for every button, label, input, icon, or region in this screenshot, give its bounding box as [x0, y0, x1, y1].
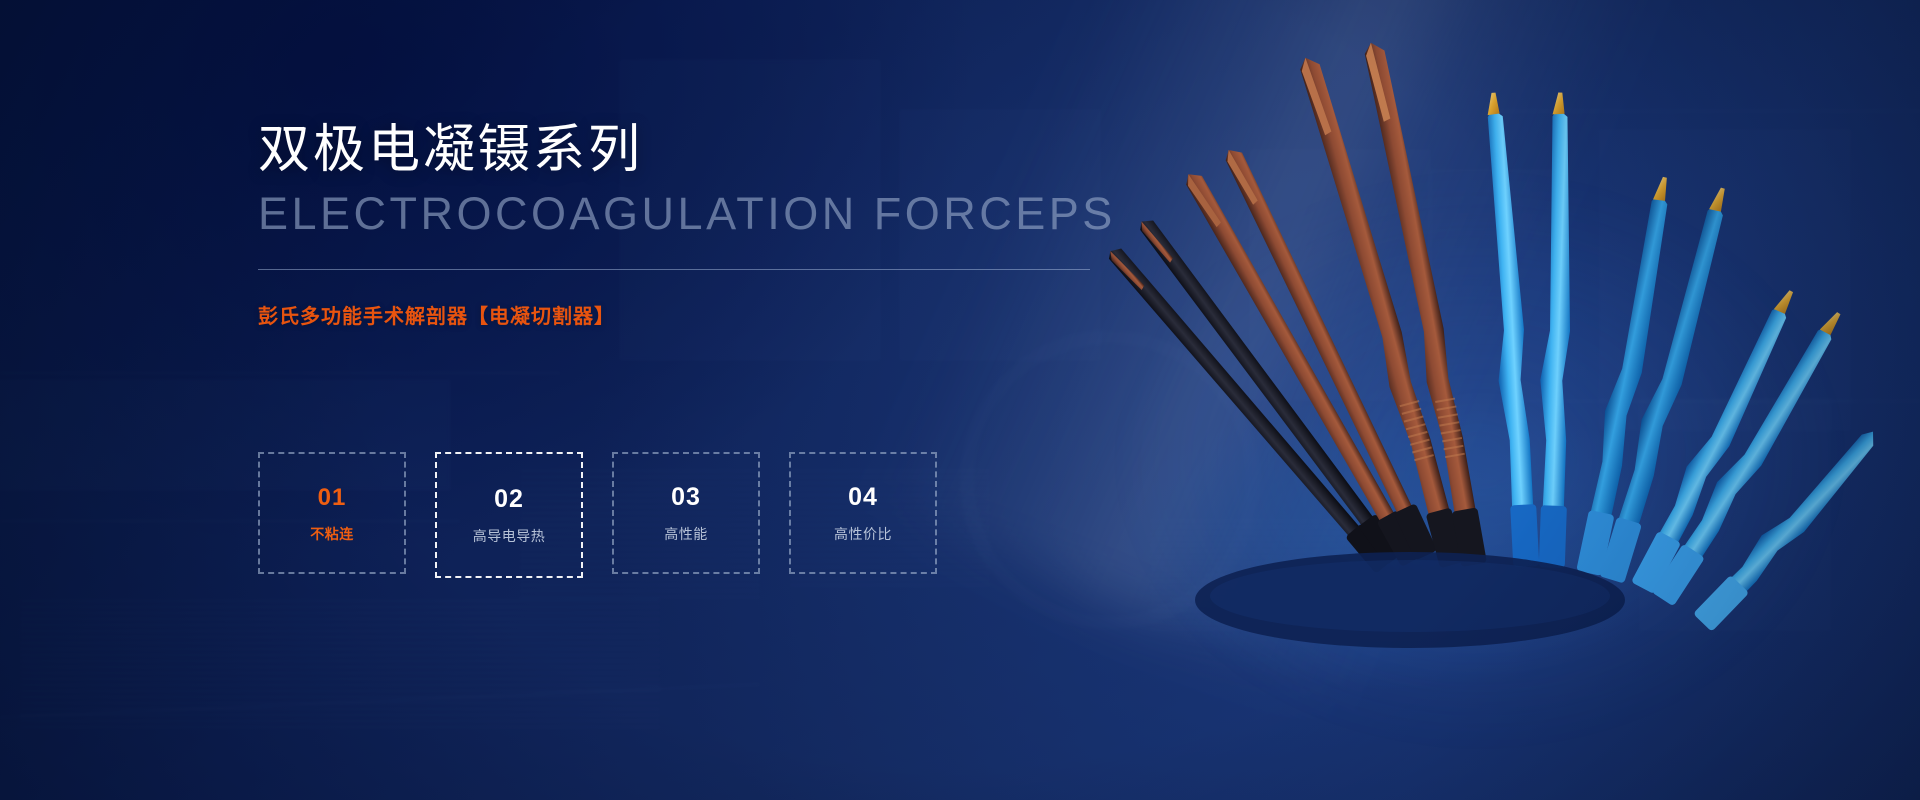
feature-label: 高性能 [664, 527, 708, 541]
feature-item-04[interactable]: 04 高性价比 [789, 452, 937, 574]
feature-number: 01 [318, 486, 347, 510]
page-subtitle-en: ELECTROCOAGULATION FORCEPS [258, 187, 1158, 241]
feature-number: 04 [848, 485, 878, 510]
light-shaft [869, 0, 1710, 707]
feature-label: 高导电导热 [473, 529, 546, 543]
feature-list: 01 不粘连 02 高导电导热 03 高性能 04 高性价比 [258, 452, 937, 578]
feature-label: 不粘连 [310, 527, 354, 541]
feature-label: 高性价比 [834, 527, 892, 541]
forceps-product-image [1080, 0, 1920, 800]
product-glow [1120, 180, 1840, 740]
feature-number: 03 [671, 485, 701, 510]
title-divider [258, 269, 1090, 270]
product-tagline: 彭氏多功能手术解剖器【电凝切割器】 [258, 300, 1158, 329]
banner-copy: 双极电凝镊系列 ELECTROCOAGULATION FORCEPS 彭氏多功能… [258, 120, 1158, 329]
feature-item-01[interactable]: 01 不粘连 [258, 452, 406, 574]
feature-number: 02 [494, 487, 524, 512]
page-title: 双极电凝镊系列 [258, 120, 1158, 181]
feature-item-02[interactable]: 02 高导电导热 [435, 452, 583, 578]
feature-item-03[interactable]: 03 高性能 [612, 452, 760, 574]
product-banner: 双极电凝镊系列 ELECTROCOAGULATION FORCEPS 彭氏多功能… [0, 0, 1920, 800]
